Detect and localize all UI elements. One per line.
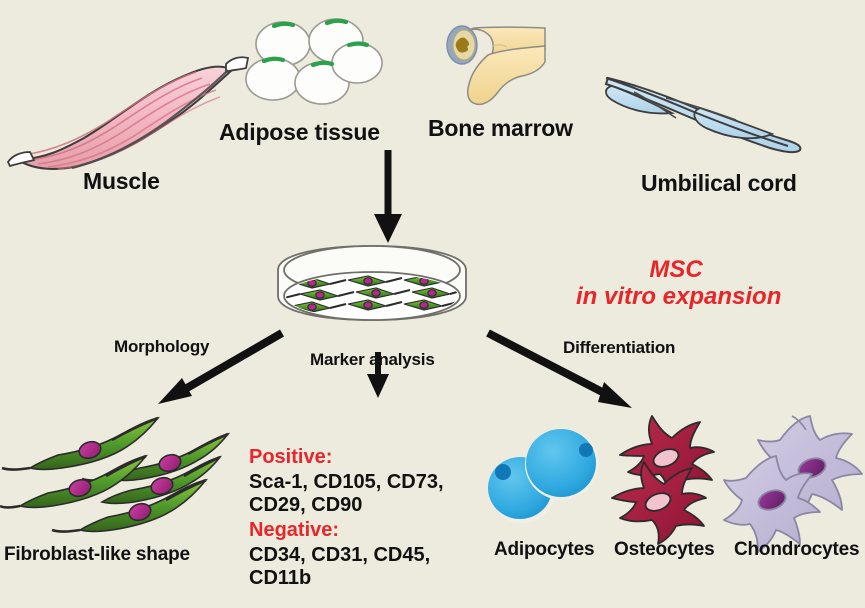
osteocyte-cells-icon	[612, 416, 714, 544]
adipocyte-cells-icon	[488, 428, 599, 523]
msc-expansion-line1: MSC	[576, 256, 776, 284]
marker-positive-heading: Positive:	[249, 446, 332, 469]
branch-label-morphology: Morphology	[114, 337, 209, 357]
source-label-muscle: Muscle	[83, 168, 160, 195]
marker-negative-heading: Negative:	[249, 519, 339, 542]
msc-expansion-line2: in vitro expansion	[576, 283, 776, 311]
muscle-icon	[8, 57, 248, 169]
source-label-adipose-tissue: Adipose tissue	[219, 119, 380, 146]
outcome-label-adipocytes: Adipocytes	[494, 539, 594, 561]
outcome-label-chondrocytes: Chondrocytes	[734, 539, 859, 561]
marker-negative-list: CD34, CD31, CD45, CD11b	[249, 544, 430, 591]
marker-positive-list: Sca-1, CD105, CD73, CD29, CD90	[249, 471, 444, 518]
branch-label-marker-analysis: Marker analysis	[310, 350, 435, 370]
fibroblast-cells-icon	[0, 418, 228, 532]
figure-canvas: Muscle Adipose tissue Bone marrow Umbili…	[0, 0, 865, 608]
branch-label-differentiation: Differentiation	[563, 338, 675, 358]
umbilical-cord-icon	[606, 78, 800, 152]
adipose-tissue-icon	[246, 19, 382, 104]
chondrocyte-cells-icon	[724, 416, 862, 552]
outcome-label-fibroblast-like-shape: Fibroblast-like shape	[4, 544, 190, 566]
bone-marrow-icon	[447, 26, 545, 104]
petri-dish-icon	[276, 246, 466, 320]
outcome-label-osteocytes: Osteocytes	[614, 539, 714, 561]
source-label-umbilical-cord: Umbilical cord	[641, 170, 797, 197]
source-label-bone-marrow: Bone marrow	[428, 115, 573, 142]
down-arrow-icon	[374, 150, 402, 243]
